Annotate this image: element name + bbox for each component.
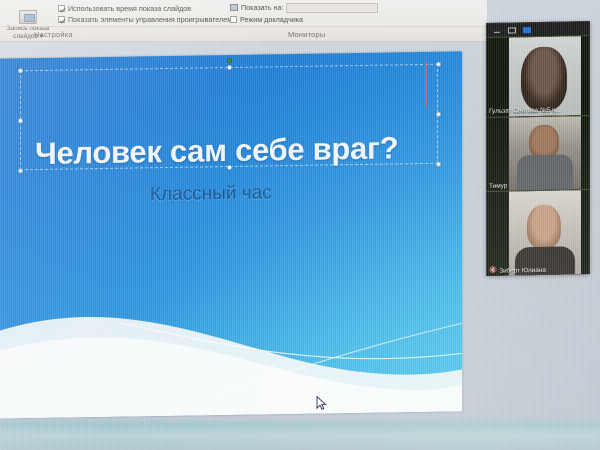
- participant-tile[interactable]: 🔇 Зиберт Юлиана: [487, 189, 589, 276]
- monitor-target-label: Показать на:: [241, 3, 284, 12]
- participant-tile[interactable]: Тимур: [487, 115, 589, 191]
- title-placeholder-box[interactable]: Человек сам себе враг?: [20, 64, 438, 171]
- participant-video: [509, 116, 581, 190]
- checkbox-use-timings-box[interactable]: [58, 5, 65, 12]
- powerpoint-ribbon: Запись показа слайдов ▾ Использовать вре…: [0, 0, 487, 42]
- checkbox-presenter-view-box[interactable]: [230, 16, 237, 23]
- checkbox-presenter-view[interactable]: Режим докладчика: [230, 15, 303, 24]
- participant-tile[interactable]: Гульзат Сейтова №5 қ...: [487, 35, 589, 117]
- checkbox-show-media-controls-box[interactable]: [58, 16, 65, 23]
- checkbox-use-timings-label: Использовать время показа слайдов: [68, 4, 191, 13]
- monitor-bezel-edge: [0, 418, 600, 450]
- text-caret: [425, 62, 427, 107]
- participant-torso: [517, 154, 573, 191]
- monitor-target-dropdown[interactable]: [286, 3, 378, 13]
- resize-handle-bottom-center[interactable]: [227, 165, 232, 170]
- checkbox-presenter-view-label: Режим докладчика: [240, 15, 303, 24]
- participant-video: [509, 36, 581, 116]
- rotation-handle[interactable]: [227, 58, 232, 63]
- ribbon-group-label-monitors: Мониторы: [288, 30, 326, 39]
- ribbon-group-divider: [0, 26, 487, 27]
- slide-canvas-area[interactable]: Человек сам себе враг? Классный час: [0, 51, 462, 418]
- mouse-cursor: [316, 395, 327, 410]
- microphone-muted-icon: 🔇: [489, 268, 497, 275]
- maximize-icon[interactable]: [508, 27, 516, 33]
- slide[interactable]: Человек сам себе враг? Классный час: [0, 51, 462, 418]
- resize-handle-middle-right[interactable]: [436, 112, 441, 117]
- participant-name: 🔇 Зиберт Юлиана: [489, 267, 546, 275]
- slide-subtitle[interactable]: Классный час: [150, 182, 272, 206]
- close-icon[interactable]: [523, 27, 531, 33]
- monitor-target-row[interactable]: Показать на:: [230, 3, 284, 12]
- minimize-icon[interactable]: [493, 27, 501, 33]
- slide-wave-decoration: [0, 281, 462, 418]
- video-conference-panel[interactable]: Гульзат Сейтова №5 қ... Тимур 🔇 Зиберт Ю…: [486, 21, 590, 276]
- checkbox-show-media-controls[interactable]: Показать элементы управления проигрывате…: [58, 15, 232, 24]
- record-slideshow-icon: [19, 10, 37, 24]
- resize-handle-bottom-right[interactable]: [436, 162, 441, 167]
- checkbox-use-timings[interactable]: Использовать время показа слайдов: [58, 4, 191, 13]
- participant-name: Тимур: [489, 183, 507, 190]
- participant-face: [527, 205, 561, 250]
- screen-photo: Запись показа слайдов ▾ Использовать вре…: [0, 0, 600, 450]
- slide-title[interactable]: Человек сам себе враг?: [35, 130, 398, 172]
- participant-video: [509, 190, 581, 275]
- participant-face: [521, 46, 567, 111]
- resize-handle-bottom-left[interactable]: [18, 168, 23, 173]
- resize-handle-top-right[interactable]: [436, 62, 441, 67]
- checkbox-show-media-controls-label: Показать элементы управления проигрывате…: [68, 15, 232, 24]
- ribbon-group-label-setup: Настройка: [34, 30, 73, 39]
- participant-name: Гульзат Сейтова №5 қ...: [489, 107, 560, 115]
- monitor-icon: [230, 4, 238, 11]
